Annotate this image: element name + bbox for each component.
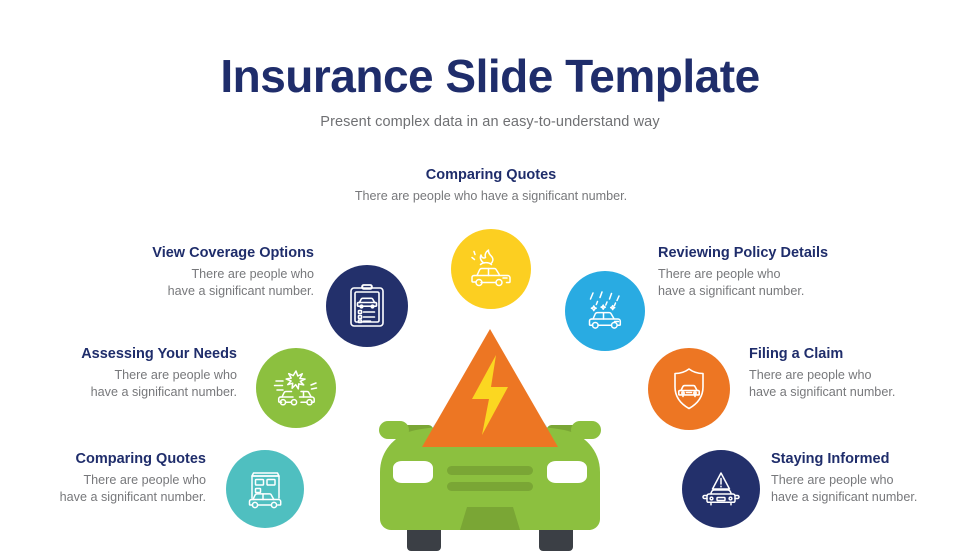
item-title-reviewing-policy-details: Reviewing Policy Details — [658, 245, 968, 262]
item-desc-assessing-your-needs: There are people who have a significant … — [20, 367, 237, 400]
car-dealership-icon — [243, 468, 287, 510]
item-desc-line1: There are people who — [658, 267, 781, 281]
item-title-staying-informed: Staying Informed — [771, 451, 980, 468]
item-text-filing-a-claim: Filing a Claim There are people who have… — [749, 346, 980, 401]
shield-car-icon — [668, 366, 710, 412]
item-text-assessing-your-needs: Assessing Your Needs There are people wh… — [20, 346, 237, 401]
car-collision-icon — [273, 367, 319, 409]
item-text-comparing-quotes-bottom: Comparing Quotes There are people who ha… — [0, 451, 206, 506]
item-desc-line2: have a significant number. — [771, 490, 917, 504]
icon-circle-staying-informed[interactable] — [682, 450, 760, 528]
item-desc-view-coverage-options: There are people who have a significant … — [20, 266, 314, 299]
page-title: Insurance Slide Template — [0, 52, 980, 100]
item-desc-line2: have a significant number. — [91, 385, 237, 399]
icon-circle-assessing-your-needs[interactable] — [256, 348, 336, 428]
item-desc-filing-a-claim: There are people who have a significant … — [749, 367, 980, 400]
icon-circle-filing-a-claim[interactable] — [648, 348, 730, 430]
item-desc-comparing-quotes-top: There are people who have a significant … — [291, 188, 691, 205]
page-subtitle: Present complex data in an easy-to-under… — [0, 114, 980, 130]
item-desc-reviewing-policy-details: There are people who have a significant … — [658, 266, 968, 299]
item-desc-staying-informed: There are people who have a significant … — [771, 472, 980, 505]
icon-circle-comparing-quotes-bottom[interactable] — [226, 450, 304, 528]
central-car-illustration — [355, 322, 625, 551]
item-desc-line1: There are people who — [83, 473, 206, 487]
item-title-comparing-quotes-top: Comparing Quotes — [291, 167, 691, 184]
item-text-view-coverage-options: View Coverage Options There are people w… — [20, 245, 314, 300]
car-warning-triangle-icon — [699, 468, 743, 510]
item-title-comparing-quotes-bottom: Comparing Quotes — [0, 451, 206, 468]
item-desc-line2: have a significant number. — [749, 385, 895, 399]
item-desc-line1: There are people who — [749, 368, 872, 382]
item-text-reviewing-policy-details: Reviewing Policy Details There are peopl… — [658, 245, 968, 300]
item-desc-line2: have a significant number. — [60, 490, 206, 504]
item-text-staying-informed: Staying Informed There are people who ha… — [771, 451, 980, 506]
item-desc-line1: There are people who — [771, 473, 894, 487]
burning-car-icon — [468, 247, 514, 291]
item-desc-comparing-quotes-bottom: There are people who have a significant … — [0, 472, 206, 505]
item-text-comparing-quotes-top: Comparing Quotes There are people who ha… — [291, 167, 691, 205]
item-title-assessing-your-needs: Assessing Your Needs — [20, 346, 237, 363]
item-title-view-coverage-options: View Coverage Options — [20, 245, 314, 262]
item-desc-line1: There are people who — [191, 267, 314, 281]
item-desc-line1: There are people who — [114, 368, 237, 382]
icon-circle-comparing-quotes-top[interactable] — [451, 229, 531, 309]
slide-header: Insurance Slide Template Present complex… — [0, 52, 980, 130]
item-desc-line2: have a significant number. — [168, 284, 314, 298]
item-title-filing-a-claim: Filing a Claim — [749, 346, 980, 363]
item-desc-line2: have a significant number. — [658, 284, 804, 298]
